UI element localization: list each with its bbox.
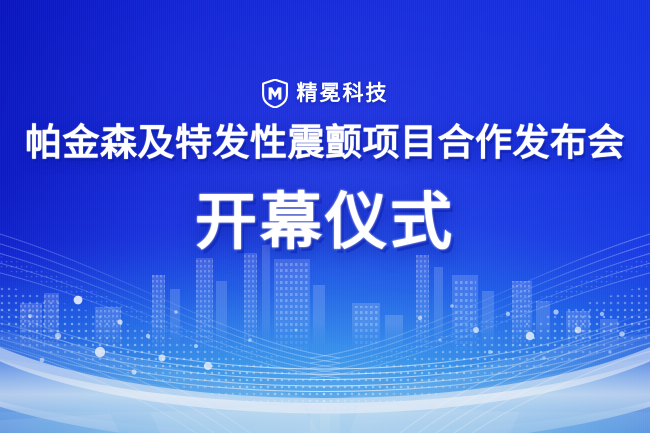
shield-m-logo-icon bbox=[262, 79, 288, 108]
event-title-line2: 开幕仪式 bbox=[0, 192, 650, 254]
brand-name: 精冕科技 bbox=[297, 83, 389, 104]
brand-logo-row: 精冕科技 bbox=[0, 76, 650, 110]
event-poster: 精冕科技 帕金森及特发性震颤项目合作发布会 开幕仪式 bbox=[0, 0, 650, 433]
event-title-line1: 帕金森及特发性震颤项目合作发布会 bbox=[0, 124, 650, 161]
